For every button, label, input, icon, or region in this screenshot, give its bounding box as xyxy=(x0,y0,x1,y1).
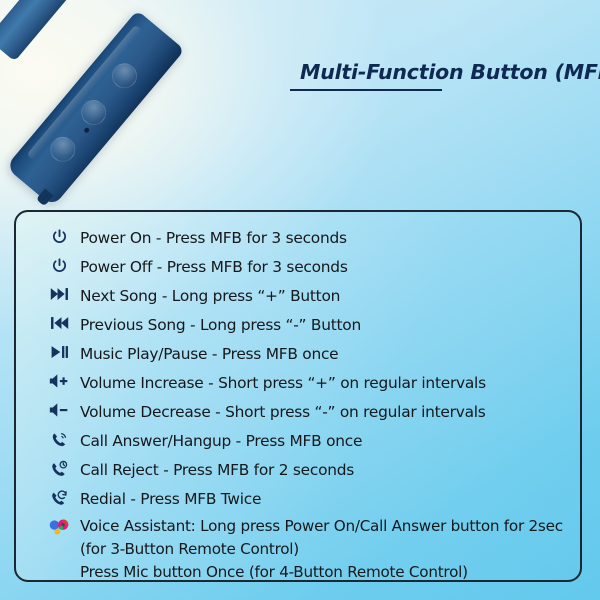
list-item-label: Power On - Press MFB for 3 seconds xyxy=(80,225,566,251)
list-item-label: Volume Increase - Short press “+” on reg… xyxy=(80,370,566,396)
remote-bottom-nub xyxy=(36,189,53,207)
play-pause-icon xyxy=(44,341,74,360)
list-item-label: Call Reject - Press MFB for 2 seconds xyxy=(80,457,566,483)
list-item-label: Call Answer/Hangup - Press MFB once xyxy=(80,428,566,454)
earphone-cable-stem xyxy=(0,0,92,61)
previous-track-icon xyxy=(44,312,74,331)
list-item: Next Song - Long press “+” Button xyxy=(30,283,566,311)
redial-icon xyxy=(44,486,74,507)
remote-button-mfb xyxy=(76,95,111,130)
list-item: Power On - Press MFB for 3 seconds xyxy=(30,225,566,253)
list-item-label: Power Off - Press MFB for 3 seconds xyxy=(80,254,566,280)
power-icon xyxy=(44,225,74,245)
list-item: Call Answer/Hangup - Press MFB once xyxy=(30,428,566,456)
list-item-label: Redial - Press MFB Twice xyxy=(80,486,566,512)
volume-down-icon xyxy=(44,399,74,418)
list-item: Volume Increase - Short press “+” on reg… xyxy=(30,370,566,398)
product-photo xyxy=(0,0,600,205)
list-item: Power Off - Press MFB for 3 seconds xyxy=(30,254,566,282)
remote-button-minus xyxy=(45,132,80,167)
voice-assistant-line-1: Voice Assistant: Long press Power On/Cal… xyxy=(80,517,563,558)
list-item: Call Reject - Press MFB for 2 seconds xyxy=(30,457,566,485)
callout-label: Multi-Function Button (MFB) xyxy=(300,60,590,91)
power-icon xyxy=(44,254,74,274)
list-item: Music Play/Pause - Press MFB once xyxy=(30,341,566,369)
page-root: Multi-Function Button (MFB) Power On - P… xyxy=(0,0,600,600)
callout-underline xyxy=(290,89,442,91)
remote-microphone-hole xyxy=(83,127,90,134)
list-item-label: Previous Song - Long press “-” Button xyxy=(80,312,566,338)
voice-assistant-line-2: Press Mic button Once (for 4-Button Remo… xyxy=(80,561,566,584)
remote-button-plus xyxy=(107,58,142,93)
call-reject-icon xyxy=(44,457,74,478)
list-item: Previous Song - Long press “-” Button xyxy=(30,312,566,340)
next-track-icon xyxy=(44,283,74,302)
instructions-card: Power On - Press MFB for 3 seconds Power… xyxy=(14,210,582,582)
volume-up-icon xyxy=(44,370,74,389)
list-item: Redial - Press MFB Twice xyxy=(30,486,566,514)
instructions-list: Power On - Press MFB for 3 seconds Power… xyxy=(30,225,566,584)
voice-assistant-icon xyxy=(44,515,74,538)
call-answer-icon xyxy=(44,428,74,449)
list-item: Volume Decrease - Short press “-” on reg… xyxy=(30,399,566,427)
list-item-label: Music Play/Pause - Press MFB once xyxy=(80,341,566,367)
callout-title: Multi-Function Button (MFB) xyxy=(300,60,590,84)
list-item-label: Next Song - Long press “+” Button xyxy=(80,283,566,309)
list-item: Voice Assistant: Long press Power On/Cal… xyxy=(30,515,566,584)
list-item-label: Volume Decrease - Short press “-” on reg… xyxy=(80,399,566,425)
list-item-label: Voice Assistant: Long press Power On/Cal… xyxy=(80,515,566,584)
